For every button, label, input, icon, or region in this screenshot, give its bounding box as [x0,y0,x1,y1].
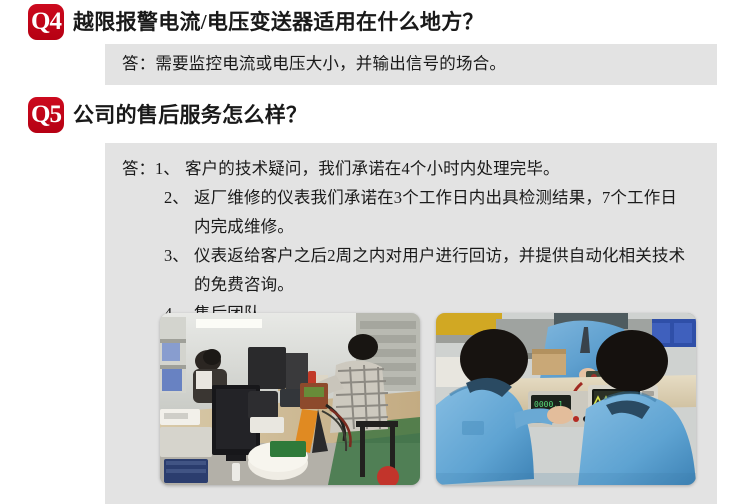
answer-text-q4: 需要监控电流或电压大小，并输出信号的场合。 [155,54,506,73]
answer-item-number: 1、 [155,154,185,183]
after-sales-team-workshop-photo [160,313,420,485]
answer-item: 2、 返厂维修的仪表我们承诺在3个工作日内出具检测结果，7个工作日 内完成维修。 [164,183,717,241]
answer-item-number: 3、 [164,241,194,270]
after-sales-photo-strip: 0000.1 [160,313,705,485]
answer-label-q5: 答： [122,154,155,183]
question-title-q5: 公司的售后服务怎么样？ [73,97,307,133]
question-row-q5: Q5 公司的售后服务怎么样？ [28,97,307,133]
answer-item-text: 返厂维修的仪表我们承诺在3个工作日内出具检测结果，7个工作日 [194,183,677,212]
answer-item-firstline: 2、 返厂维修的仪表我们承诺在3个工作日内出具检测结果，7个工作日 [164,183,717,212]
answer-item-wrapline: 的免费咨询。 [194,270,717,299]
question-badge-q5: Q5 [28,97,64,133]
answer-item-text: 仪表返给客户之后2周之内对用户进行回访，并提供自动化相关技术 [194,241,685,270]
question-title-q4: 越限报警电流/电压变送器适用在什么地方？ [73,4,484,40]
answer-panel-q4: 答：需要监控电流或电压大小，并输出信号的场合。 [105,44,717,85]
answer-item: 3、 仪表返给客户之后2周之内对用户进行回访，并提供自动化相关技术 的免费咨询。 [164,241,717,299]
after-sales-team-testing-photo: 0000.1 [436,313,696,485]
answer-item-firstline: 3、 仪表返给客户之后2周之内对用户进行回访，并提供自动化相关技术 [164,241,717,270]
testing-photo-illustration: 0000.1 [436,313,696,485]
question-row-q4: Q4 越限报警电流/电压变送器适用在什么地方？ [28,4,484,40]
answer-body-q5: 答： 1、 客户的技术疑问，我们承诺在4个小时内处理完毕。 2、 返厂维修的仪表… [105,143,717,328]
answer-line-q4: 答：需要监控电流或电压大小，并输出信号的场合。 [122,50,717,78]
workshop-photo-illustration [160,313,420,485]
answer-item-wrapline: 内完成维修。 [194,212,717,241]
answer-label-q4: 答： [122,54,155,73]
answer-item-text: 客户的技术疑问，我们承诺在4个小时内处理完毕。 [185,154,560,183]
answer-item: 答： 1、 客户的技术疑问，我们承诺在4个小时内处理完毕。 [122,154,717,183]
faq-page: Q4 越限报警电流/电压变送器适用在什么地方？ 答：需要监控电流或电压大小，并输… [0,0,750,504]
answer-item-number: 2、 [164,183,194,212]
question-badge-q4: Q4 [28,4,64,40]
